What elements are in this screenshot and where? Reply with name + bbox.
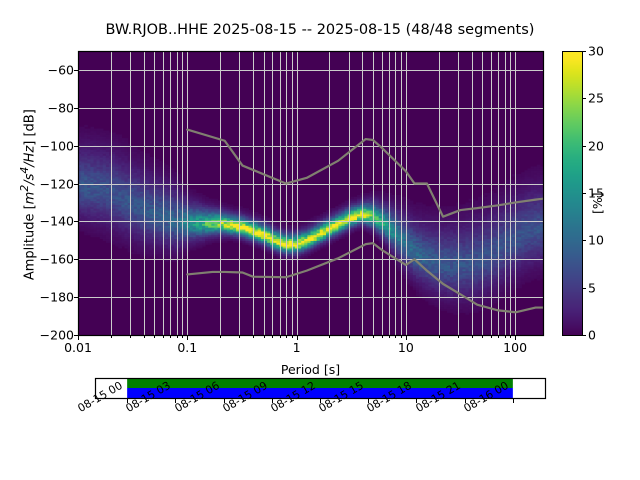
x-tick-label: 0.1 xyxy=(177,340,197,355)
colorbar-tick-label: 0 xyxy=(588,328,628,343)
page-title: BW.RJOB..HHE 2025-08-15 -- 2025-08-15 (4… xyxy=(0,22,640,38)
x-axis-label: Period [s] xyxy=(78,362,543,377)
x-tick-label: 100 xyxy=(503,340,527,355)
y-tick-label: −100 xyxy=(14,138,74,153)
colorbar-tick-label: 10 xyxy=(588,233,628,248)
ppsd-figure: BW.RJOB..HHE 2025-08-15 -- 2025-08-15 (4… xyxy=(0,0,640,480)
colorbar-tick-label: 25 xyxy=(588,91,628,106)
x-tick-label: 0.01 xyxy=(64,340,92,355)
y-tick-label: −60 xyxy=(14,62,74,77)
y-tick-label: −80 xyxy=(14,100,74,115)
y-tick-label: −180 xyxy=(14,290,74,305)
y-tick-label: −140 xyxy=(14,214,74,229)
colorbar-tick-label: 15 xyxy=(588,186,628,201)
colorbar-label: [%] xyxy=(590,154,605,214)
colorbar-tick-label: 20 xyxy=(588,138,628,153)
y-tick-label: −160 xyxy=(14,252,74,267)
x-tick-label: 10 xyxy=(398,340,414,355)
y-tick-label: −120 xyxy=(14,176,74,191)
colorbar-tick-label: 5 xyxy=(588,280,628,295)
x-tick-label: 1 xyxy=(293,340,301,355)
colorbar-tick-label: 30 xyxy=(588,44,628,59)
